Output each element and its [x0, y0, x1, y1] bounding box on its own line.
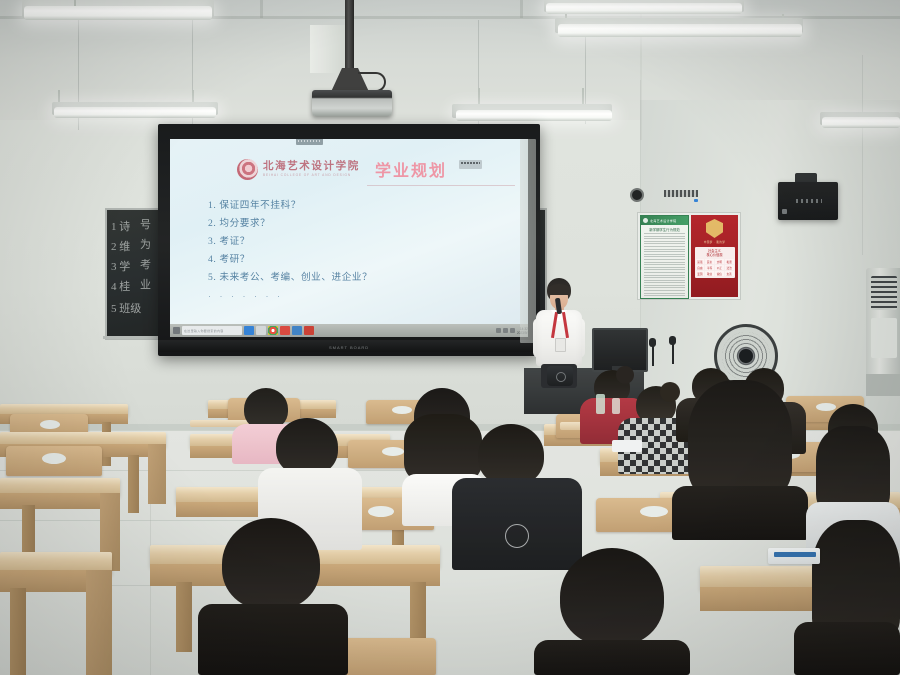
ceiling-beam [520, 0, 523, 18]
slide-bullet: 3. 考证？ [208, 237, 372, 247]
water-bottle [596, 394, 605, 414]
bag-clasp [556, 372, 566, 382]
logo-mark-icon [237, 159, 258, 180]
core-values-box: 社会主义 核心价值观 富强 民主 文明 和谐 自由 平等 公正 法治 爱国 敬业… [695, 247, 735, 278]
slide-bullet: 2. 均分要求？ [208, 219, 372, 229]
projection-screen[interactable]: 北海艺术设计学院 BEIHAI COLLEGE OF ART AND DESIG… [170, 139, 528, 337]
interactive-whiteboard[interactable]: 北海艺术设计学院 BEIHAI COLLEGE OF ART AND DESIG… [158, 124, 540, 356]
app-red-icon[interactable] [304, 326, 314, 335]
wps-icon[interactable] [280, 326, 290, 335]
projector-power-led [694, 199, 698, 202]
core-value: 文明 [715, 259, 724, 264]
core-value: 平等 [705, 265, 714, 270]
core-value: 和谐 [725, 259, 734, 264]
projector-vents [664, 190, 698, 197]
slide-bullet: 5. 未来考公、考编、创业、进企业？ [208, 273, 372, 283]
ac-base [866, 374, 900, 396]
water-bottle [612, 398, 620, 414]
slide-bullet: 4. 考研？ [208, 255, 372, 265]
file-explorer-icon[interactable] [256, 326, 266, 335]
school-name-cn: 北海艺术设计学院 [263, 162, 360, 173]
search-input[interactable]: 在这里输入你要搜索的内容 [182, 326, 242, 335]
speaker-led [782, 209, 787, 214]
search-placeholder: 在这里输入你要搜索的内容 [184, 329, 224, 333]
ceiling-projector [312, 90, 392, 116]
national-emblem-icon [706, 219, 723, 238]
ceiling-soffit [310, 25, 348, 73]
windows-taskbar[interactable]: 在这里输入你要搜索的内容 14:32 2023/9/15 [170, 324, 528, 337]
chalk-line: 业 [140, 276, 151, 292]
poster-red: 中国梦 · 我的梦 社会主义 核心价值观 富强 民主 文明 和谐 自由 平等 公… [691, 215, 738, 297]
poster-green-body [641, 233, 688, 299]
start-icon[interactable] [173, 327, 180, 334]
notebook-band [774, 552, 816, 557]
ceiling-light [24, 6, 212, 20]
light-stem [74, 0, 76, 6]
wall-seam [862, 55, 863, 255]
wall-poster-board: 北海艺术设计学院 新学期学生行为规范 中国梦 · 我的梦 社会主义 核心价值观 … [637, 212, 741, 300]
ac-grille [871, 276, 897, 310]
core-value: 民主 [705, 259, 714, 264]
microphone-stem [672, 344, 674, 364]
projector-mount-pole [345, 0, 354, 72]
ac-panel [871, 318, 897, 358]
poster-green-header: 北海艺术设计学院 [641, 216, 688, 225]
ceiling-light [54, 107, 216, 118]
tray-icon[interactable] [496, 328, 501, 333]
core-value: 诚信 [715, 271, 724, 276]
ceiling-light [456, 110, 612, 121]
task-view-icon[interactable] [244, 326, 254, 335]
core-value: 敬业 [705, 271, 714, 276]
slide-continuation: · · · · · · · [208, 291, 372, 301]
core-value: 友善 [725, 271, 734, 276]
chalk-line: 3 学 [111, 258, 130, 274]
wall-speaker [778, 182, 838, 220]
poster-green: 北海艺术设计学院 新学期学生行为规范 [640, 215, 689, 299]
core-value: 自由 [696, 265, 705, 270]
microphone-icon [649, 338, 656, 347]
chrome-icon[interactable] [268, 326, 278, 335]
chalk-line: 1 诗 [111, 218, 130, 234]
chalk-line: 2 维 [111, 238, 130, 254]
core-values-heading-2: 核心价值观 [696, 253, 734, 257]
classroom-scene: 1 诗 2 维 3 学 4 桂 5 班级 号 为 考 业 记 录 北海艺术设计学… [0, 0, 900, 675]
poster-red-subtitle: 中国梦 · 我的梦 [704, 240, 725, 244]
presenter-hairline [548, 284, 570, 295]
presenter [527, 278, 589, 388]
core-value: 法治 [725, 265, 734, 270]
slide-title: 学业规划 [375, 157, 447, 181]
ceiling-light [546, 3, 742, 14]
core-value: 爱国 [696, 271, 705, 276]
speaker-vent [796, 199, 822, 203]
microphone-icon [669, 336, 676, 345]
fan-hub [739, 349, 753, 363]
projector-cable-arm [358, 72, 386, 92]
slide-title-rule [367, 185, 515, 186]
core-value: 公正 [715, 265, 724, 270]
chalk-line: 为 [140, 236, 151, 252]
presenter-bag [547, 366, 573, 386]
ceiling-beam [260, 0, 263, 18]
slide-badge [459, 160, 482, 169]
slide-bullet-list: 1. 保证四年不挂科？ 2. 均分要求？ 3. 考证？ 4. 考研？ 5. 未来… [208, 201, 372, 301]
poster-logo-icon [643, 218, 648, 223]
ceiling-light [822, 117, 900, 128]
student-long-hair [688, 380, 792, 500]
projector-lens [630, 188, 644, 202]
board-brand-label: SMART BOARD [329, 345, 369, 350]
core-values-grid: 富强 民主 文明 和谐 自由 平等 公正 法治 爱国 敬业 诚信 友善 [696, 259, 734, 276]
board-tooltip [296, 139, 323, 145]
presentation-slide: 北海艺术设计学院 BEIHAI COLLEGE OF ART AND DESIG… [170, 139, 528, 337]
microphone-stem [652, 346, 654, 366]
network-icon[interactable] [503, 328, 508, 333]
chalk-line: 5 班级 [111, 300, 141, 316]
air-conditioner [866, 268, 900, 396]
chalk-line: 号 [140, 216, 151, 232]
app-blue-icon[interactable] [292, 326, 302, 335]
core-value: 富强 [696, 259, 705, 264]
chalk-line: 4 桂 [111, 278, 130, 294]
presenter-id-badge [555, 338, 566, 352]
poster-green-title: 新学期学生行为规范 [641, 227, 688, 232]
school-name-en: BEIHAI COLLEGE OF ART AND DESIGN [263, 174, 360, 177]
slide-bullet: 1. 保证四年不挂科？ [208, 201, 372, 211]
school-logo: 北海艺术设计学院 BEIHAI COLLEGE OF ART AND DESIG… [237, 159, 360, 180]
chalk-line: 考 [140, 256, 151, 272]
paper-sheet [612, 440, 642, 452]
ceiling-light [558, 24, 802, 37]
volume-icon[interactable] [510, 328, 515, 333]
poster-green-org: 北海艺术设计学院 [650, 219, 676, 223]
